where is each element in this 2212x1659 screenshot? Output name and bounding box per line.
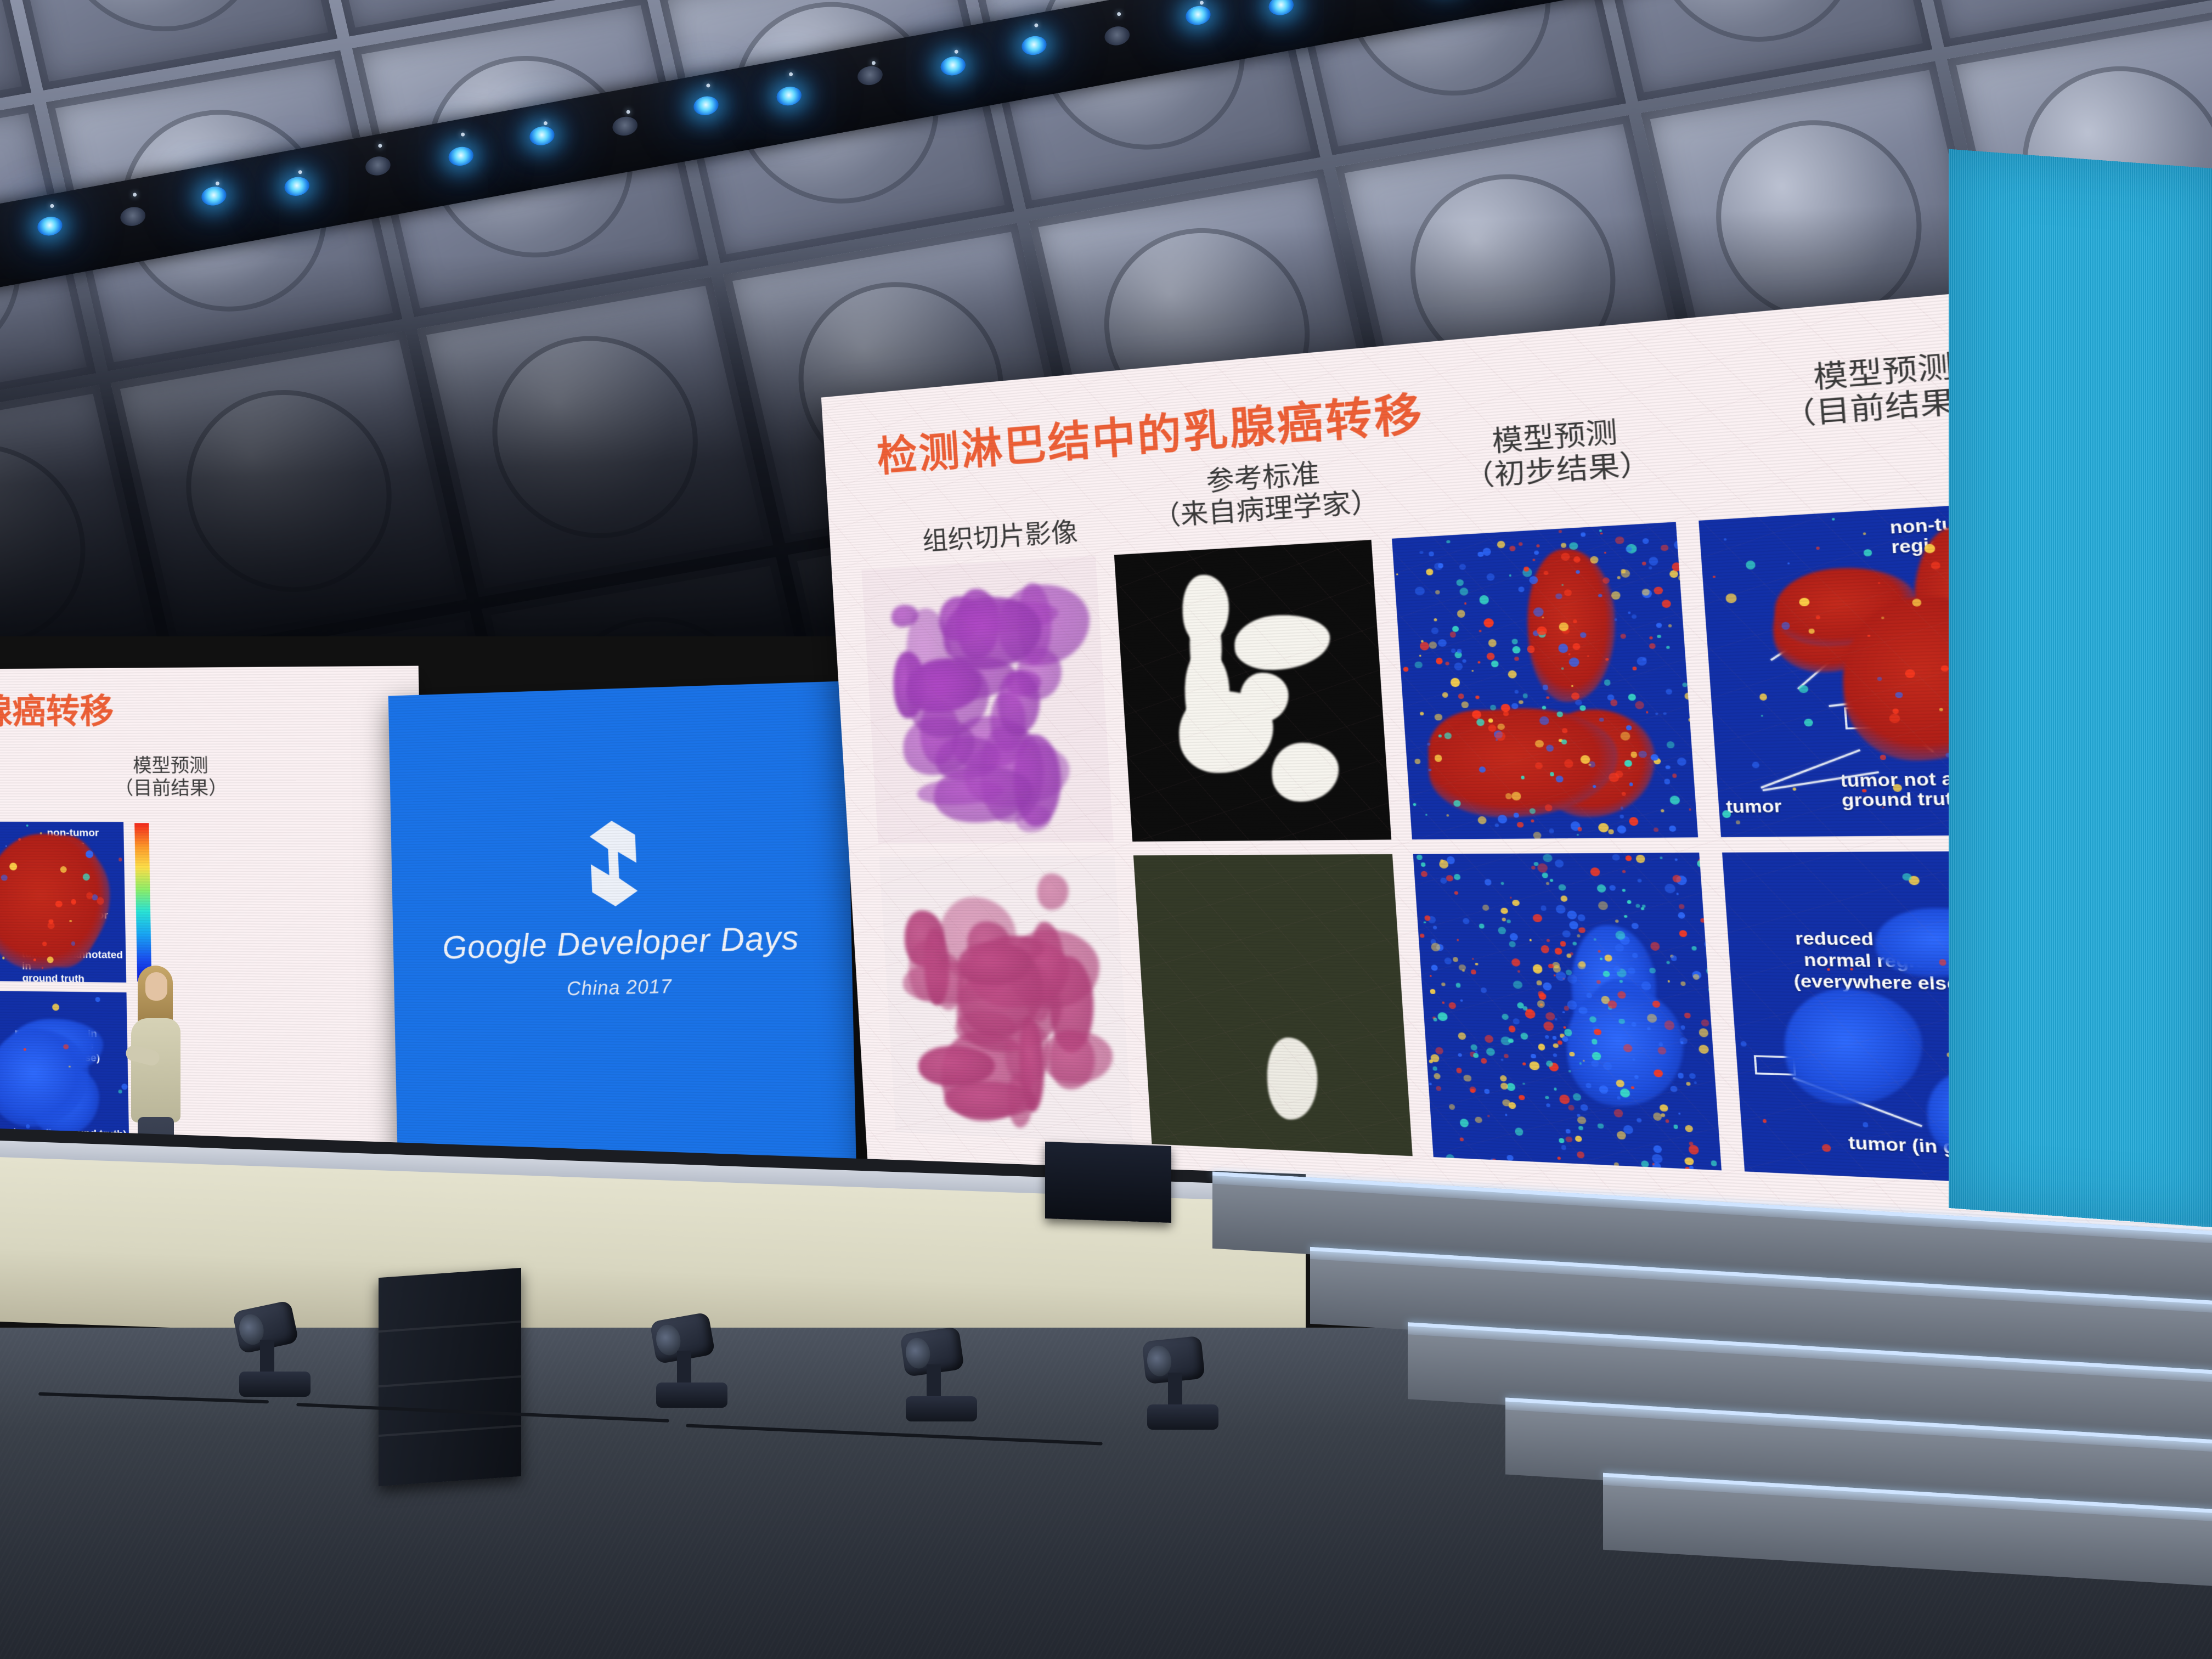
probability-speckle — [1511, 792, 1521, 800]
probability-speckle — [1558, 884, 1566, 891]
probability-speckle — [1569, 542, 1578, 550]
probability-speckle — [1505, 1114, 1508, 1116]
mask-blob — [1180, 573, 1231, 645]
probability-speckle — [1594, 1029, 1601, 1035]
presenter-torso — [131, 1018, 180, 1122]
probability-speckle — [1566, 953, 1571, 958]
probability-speckle — [1877, 677, 1882, 681]
probability-speckle — [1593, 785, 1596, 788]
probability-speckle — [1435, 1047, 1443, 1054]
probability-speckle — [1759, 694, 1768, 701]
probability-speckle — [1430, 943, 1440, 951]
probability-speckle — [1514, 656, 1519, 661]
probability-speckle — [1614, 1163, 1619, 1167]
probability-speckle — [1669, 825, 1677, 832]
ann-tumor-left: tumor — [1725, 797, 1782, 816]
probability-speckle — [1636, 904, 1640, 908]
probability-speckle — [1429, 551, 1434, 556]
probability-speckle — [1649, 636, 1653, 640]
secondary-col-label-4-line1: 模型预测 — [133, 755, 208, 776]
probability-speckle — [1500, 908, 1508, 915]
probability-speckle — [1614, 618, 1617, 620]
probability-speckle — [1567, 975, 1577, 984]
probability-speckle — [1459, 1119, 1469, 1127]
probability-speckle — [1541, 945, 1550, 953]
probability-speckle — [1889, 714, 1900, 723]
probability-speckle — [1699, 1045, 1709, 1054]
probability-speckle — [1629, 817, 1639, 826]
probability-speckle — [1577, 834, 1579, 836]
side-cyan-led-panel — [1949, 149, 2212, 1228]
probability-speckle — [1642, 561, 1646, 565]
probability-speckle — [1598, 901, 1609, 911]
probability-speckle — [1553, 1053, 1558, 1057]
probability-speckle — [1681, 1025, 1686, 1030]
probability-speckle — [1430, 1054, 1439, 1062]
probability-speckle — [1679, 930, 1688, 937]
probability-speckle — [1562, 930, 1571, 938]
probability-speckle — [1499, 1075, 1507, 1082]
probability-speckle — [1603, 1062, 1612, 1070]
probability-speckle — [1518, 587, 1525, 593]
probability-speckle — [1457, 610, 1466, 618]
secondary-col-label-3-line2: （初步结果） — [0, 785, 5, 805]
probability-speckle — [1444, 732, 1452, 740]
probability-speckle — [1822, 1144, 1831, 1153]
probability-speckle — [1504, 1053, 1509, 1058]
probability-speckle — [1621, 634, 1627, 639]
probability-speckle — [1554, 859, 1564, 867]
probability-speckle — [1713, 575, 1716, 578]
probability-speckle — [1649, 968, 1656, 973]
probability-speckle — [1631, 1086, 1634, 1089]
probability-speckle — [1520, 1032, 1528, 1040]
probability-speckle — [1531, 1054, 1536, 1058]
probability-speckle — [1566, 1129, 1571, 1133]
probability-speckle — [1704, 940, 1713, 947]
probability-speckle — [1660, 544, 1668, 551]
tissue-blob — [1040, 1030, 1114, 1085]
probability-speckle — [1561, 1145, 1567, 1150]
probability-speckle — [1643, 538, 1649, 544]
probability-speckle — [1624, 915, 1627, 918]
probability-speckle — [1429, 1082, 1432, 1085]
probability-speckle — [1522, 1062, 1526, 1065]
probability-speckle — [1863, 532, 1866, 535]
probability-speckle — [1543, 854, 1553, 862]
probability-speckle — [1577, 1151, 1585, 1159]
probability-speckle — [26, 824, 29, 826]
probability-speckle — [1486, 1048, 1495, 1056]
probability-speckle — [1566, 969, 1572, 975]
probability-speckle — [1678, 1113, 1681, 1115]
probability-speckle — [1620, 1088, 1630, 1097]
probability-speckle — [1726, 594, 1737, 603]
probability-speckle — [1711, 1160, 1717, 1166]
probability-speckle — [1447, 815, 1449, 817]
probability-speckle — [1611, 591, 1621, 599]
probability-speckle — [1471, 969, 1476, 974]
probability-speckle — [1552, 1036, 1556, 1040]
probability-speckle — [1562, 1036, 1568, 1042]
probability-speckle — [1578, 915, 1585, 921]
secondary-slide: 检测淋巴结中的乳腺癌转移 参考标准 （来自病理学家） 模型预测 （初步结果） 模… — [0, 666, 427, 1170]
probability-speckle — [1604, 551, 1606, 554]
probability-speckle — [1863, 1122, 1869, 1128]
probability-speckle — [1560, 543, 1566, 548]
probability-speckle — [1625, 855, 1632, 861]
probability-speckle — [1569, 1052, 1575, 1057]
probability-speckle — [1621, 569, 1630, 578]
secondary-cell-pred-current-1: non-tumor regions tumor tumor tumor not … — [0, 822, 126, 983]
mask-blob — [1232, 613, 1331, 672]
probability-speckle — [1679, 904, 1685, 910]
probability-speckle — [1532, 914, 1542, 922]
probability-speckle — [1521, 776, 1525, 779]
probability-speckle — [1464, 1075, 1471, 1082]
probability-speckle — [1482, 905, 1489, 911]
probability-speckle — [1669, 570, 1678, 578]
probability-speckle — [1627, 900, 1631, 904]
line-array-speaker-stack — [379, 1268, 521, 1486]
probability-speckle — [1652, 1154, 1662, 1164]
probability-speckle — [1677, 758, 1687, 766]
probability-speckle — [1787, 562, 1790, 565]
probability-speckle — [1675, 859, 1678, 861]
probability-speckle — [1688, 718, 1693, 722]
probability-speckle — [1457, 939, 1459, 941]
probability-speckle — [1670, 1086, 1678, 1092]
probability-speckle — [1604, 955, 1612, 962]
probability-speckle — [1458, 964, 1466, 971]
probability-speckle — [1471, 670, 1474, 672]
probability-speckle — [1539, 716, 1549, 725]
probability-speckle — [1511, 639, 1518, 645]
probability-speckle — [1636, 855, 1645, 862]
probability-speckle — [1564, 1006, 1569, 1011]
probability-speckle — [1501, 1058, 1504, 1061]
probability-speckle — [1650, 942, 1660, 951]
probability-speckle — [1455, 983, 1461, 988]
probability-speckle — [1428, 769, 1431, 771]
probability-speckle — [1905, 669, 1915, 678]
probability-speckle — [2, 957, 5, 960]
probability-speckle — [1452, 625, 1459, 632]
probability-speckle — [1545, 882, 1549, 885]
probability-speckle — [1678, 912, 1686, 918]
probability-speckle — [1562, 728, 1567, 733]
probability-speckle — [55, 900, 63, 907]
probability-speckle — [1458, 1032, 1466, 1040]
probability-speckle — [1577, 827, 1582, 832]
probability-speckle — [1473, 1053, 1479, 1058]
probability-speckle — [1575, 699, 1582, 706]
probability-speckle — [1632, 1058, 1635, 1060]
probability-speckle — [1666, 765, 1671, 770]
probability-speckle — [1598, 823, 1609, 832]
probability-speckle — [1578, 1126, 1583, 1130]
probability-speckle — [1414, 759, 1421, 765]
col-label-1-line1: 组织切片影像 — [922, 517, 1079, 556]
probability-speckle — [1629, 782, 1634, 786]
probability-speckle — [1510, 897, 1512, 899]
probability-speckle — [1519, 700, 1523, 704]
probability-speckle — [1415, 661, 1423, 668]
probability-speckle — [1657, 634, 1661, 637]
probability-speckle — [1560, 941, 1566, 946]
probability-speckle — [26, 1124, 30, 1128]
probability-speckle — [119, 1090, 122, 1093]
probability-speckle — [1488, 639, 1497, 647]
probability-speckle — [1684, 1013, 1691, 1018]
probability-speckle — [1442, 692, 1448, 698]
probability-speckle — [1, 874, 8, 881]
probability-speckle — [1706, 967, 1715, 975]
probability-speckle — [1508, 670, 1517, 679]
probability-speckle — [1434, 1073, 1440, 1079]
probability-speckle — [1685, 1125, 1693, 1132]
probability-speckle — [1545, 1012, 1555, 1021]
probability-speckle — [1543, 1022, 1554, 1031]
probability-speckle — [1542, 706, 1546, 710]
probability-speckle — [1652, 1163, 1655, 1165]
probability-speckle — [1500, 882, 1504, 885]
probability-speckle — [1612, 854, 1620, 861]
probability-speckle — [1485, 879, 1492, 885]
probability-speckle — [1649, 643, 1655, 649]
probability-speckle — [1479, 923, 1485, 928]
probability-speckle — [97, 897, 104, 905]
probability-speckle — [1664, 884, 1675, 893]
probability-speckle — [86, 892, 93, 899]
probability-speckle — [1610, 699, 1617, 707]
secondary-slide-title: 检测淋巴结中的乳腺癌转移 — [0, 684, 114, 735]
probability-speckle — [1939, 708, 1943, 711]
probability-speckle — [1509, 941, 1516, 947]
probability-speckle — [1463, 918, 1470, 924]
probability-speckle — [1508, 1038, 1513, 1042]
probability-speckle — [1533, 832, 1542, 839]
probability-speckle — [1577, 1114, 1580, 1117]
probability-speckle — [1632, 923, 1639, 929]
probability-speckle — [1939, 960, 1946, 966]
gdd-chevron-logo — [571, 815, 656, 910]
probability-blob — [1780, 988, 1927, 1108]
probability-speckle — [1650, 754, 1658, 761]
probability-speckle — [1459, 563, 1466, 570]
probability-speckle — [1464, 602, 1466, 605]
probability-speckle — [5, 845, 7, 847]
probability-speckle — [1689, 1166, 1693, 1169]
probability-speckle — [1619, 980, 1623, 983]
probability-speckle — [63, 1044, 69, 1049]
probability-speckle — [1637, 1118, 1641, 1122]
probability-speckle — [1530, 1061, 1539, 1070]
probability-speckle — [1941, 665, 1949, 672]
probability-speckle — [1655, 713, 1658, 715]
probability-speckle — [69, 1065, 71, 1068]
probability-speckle — [119, 857, 122, 861]
probability-speckle — [1555, 776, 1563, 782]
probability-speckle — [1599, 529, 1602, 532]
probability-speckle — [1676, 893, 1679, 895]
probability-speckle — [1497, 815, 1508, 823]
probability-speckle — [1517, 970, 1520, 973]
probability-speckle — [1419, 933, 1424, 938]
probability-speckle — [1656, 623, 1662, 628]
probability-speckle — [1622, 792, 1626, 796]
probability-speckle — [1547, 1103, 1550, 1107]
probability-speckle — [1673, 1125, 1678, 1129]
probability-speckle — [1679, 575, 1684, 580]
probability-speckle — [1532, 559, 1535, 562]
probability-speckle — [1604, 680, 1611, 686]
probability-speckle — [1512, 900, 1520, 906]
cell-ground-truth-row1 — [1114, 540, 1391, 842]
probability-speckle — [1498, 927, 1506, 934]
probability-speckle — [1697, 860, 1705, 867]
probability-speckle — [1492, 1159, 1496, 1162]
probability-speckle — [1557, 1156, 1561, 1160]
probability-speckle — [1519, 542, 1523, 546]
probability-speckle — [1577, 1116, 1586, 1124]
probability-speckle — [1427, 743, 1431, 746]
probability-speckle — [1555, 948, 1562, 955]
probability-speckle — [1487, 1115, 1491, 1118]
probability-speckle — [60, 866, 67, 873]
probability-speckle — [1615, 944, 1624, 951]
probability-speckle — [1589, 764, 1591, 766]
probability-speckle — [1686, 1082, 1690, 1085]
probability-speckle — [1691, 946, 1697, 951]
gdd-logo-screen: Google Developer Days China 2017 — [388, 681, 857, 1177]
mask-blob — [1270, 742, 1341, 802]
probability-speckle — [1700, 918, 1706, 923]
probability-speckle — [1559, 530, 1562, 533]
probability-speckle — [1545, 1035, 1549, 1039]
probability-speckle — [1505, 793, 1513, 799]
probability-speckle — [1462, 659, 1466, 663]
secondary-ann-not-annotated-l2: ground truth — [22, 973, 84, 983]
probability-speckle — [42, 942, 47, 946]
probability-speckle — [1559, 1138, 1565, 1143]
probability-speckle — [1646, 711, 1649, 713]
probability-speckle — [1438, 735, 1441, 738]
probability-speckle — [1741, 1041, 1747, 1046]
probability-speckle — [1446, 875, 1453, 882]
probability-speckle — [1654, 1069, 1663, 1077]
probability-speckle — [1514, 690, 1519, 693]
probability-speckle — [1497, 724, 1505, 730]
probability-speckle — [1459, 1137, 1463, 1141]
probability-speckle — [1508, 1102, 1516, 1109]
led-wall: 检测淋巴结中的乳腺癌转移 参考标准 （来自病理学家） 模型预测 （初步结果） 模… — [0, 0, 2212, 1262]
probability-speckle — [1681, 981, 1686, 986]
probability-speckle — [1433, 1018, 1437, 1022]
probability-speckle — [1684, 692, 1692, 699]
probability-speckle — [1580, 1104, 1588, 1111]
probability-speckle — [1435, 714, 1442, 721]
probability-speckle — [1761, 715, 1763, 717]
probability-speckle — [1559, 623, 1569, 631]
probability-speckle — [1566, 1136, 1573, 1142]
probability-speckle — [1420, 642, 1429, 650]
probability-speckle — [1600, 958, 1602, 960]
probability-speckle — [1678, 1073, 1684, 1079]
probability-speckle — [1419, 712, 1424, 715]
probability-speckle — [1396, 573, 1398, 575]
probability-speckle — [1534, 740, 1544, 748]
probability-speckle — [1522, 693, 1528, 698]
probability-speckle — [1477, 816, 1487, 824]
probability-speckle — [1481, 988, 1487, 993]
probability-speckle — [71, 941, 75, 945]
probability-speckle — [1536, 544, 1540, 548]
probability-speckle — [1549, 829, 1554, 833]
probability-speckle — [1419, 550, 1423, 554]
probability-speckle — [1689, 809, 1691, 811]
probability-speckle — [1545, 1096, 1549, 1099]
probability-speckle — [1613, 966, 1621, 972]
stage-stairs — [1212, 1201, 2212, 1659]
probability-speckle — [1614, 1109, 1623, 1118]
probability-speckle — [1609, 885, 1616, 891]
probability-speckle — [1421, 863, 1425, 867]
probability-speckle — [1602, 577, 1610, 584]
probability-speckle — [1475, 1050, 1477, 1053]
probability-speckle — [1470, 1044, 1477, 1050]
probability-speckle — [1679, 1037, 1688, 1044]
probability-speckle — [1692, 974, 1700, 980]
probability-speckle — [1652, 1113, 1662, 1121]
probability-speckle — [1475, 695, 1480, 699]
probability-speckle — [1577, 962, 1586, 969]
probability-speckle — [1425, 814, 1427, 816]
probability-speckle — [1446, 540, 1450, 543]
probability-speckle — [1661, 1113, 1666, 1117]
probability-speckle — [1538, 1043, 1545, 1050]
probability-speckle — [1486, 652, 1495, 661]
probability-speckle — [1515, 1128, 1523, 1136]
probability-speckle — [1666, 646, 1670, 649]
probability-speckle — [1630, 752, 1638, 758]
secondary-col-label-4-line2: （目前结果） — [115, 778, 228, 799]
probability-speckle — [1663, 712, 1667, 715]
probability-speckle — [1542, 873, 1549, 878]
probability-speckle — [1583, 1059, 1585, 1062]
probability-speckle — [1658, 1047, 1667, 1055]
tissue-blob — [1036, 873, 1070, 910]
probability-speckle — [1509, 545, 1516, 551]
probability-speckle — [1641, 1160, 1649, 1168]
probability-speckle — [1539, 993, 1547, 1000]
probability-speckle — [1578, 1007, 1588, 1015]
probability-speckle — [1486, 573, 1494, 581]
probability-speckle — [1632, 953, 1638, 958]
probability-speckle — [1483, 548, 1492, 555]
cell-prediction-preliminary-row2 — [1413, 853, 1722, 1170]
probability-speckle — [1660, 856, 1663, 859]
probability-speckle — [1485, 1035, 1494, 1043]
gdd-title: Google Developer Days — [442, 918, 800, 966]
probability-speckle — [1640, 907, 1644, 910]
probability-speckle — [1429, 641, 1437, 649]
probability-speckle — [1694, 1081, 1697, 1084]
probability-speckle — [1607, 1001, 1617, 1009]
probability-speckle — [1557, 712, 1563, 717]
probability-speckle — [1564, 589, 1572, 596]
probability-speckle — [1708, 988, 1714, 992]
